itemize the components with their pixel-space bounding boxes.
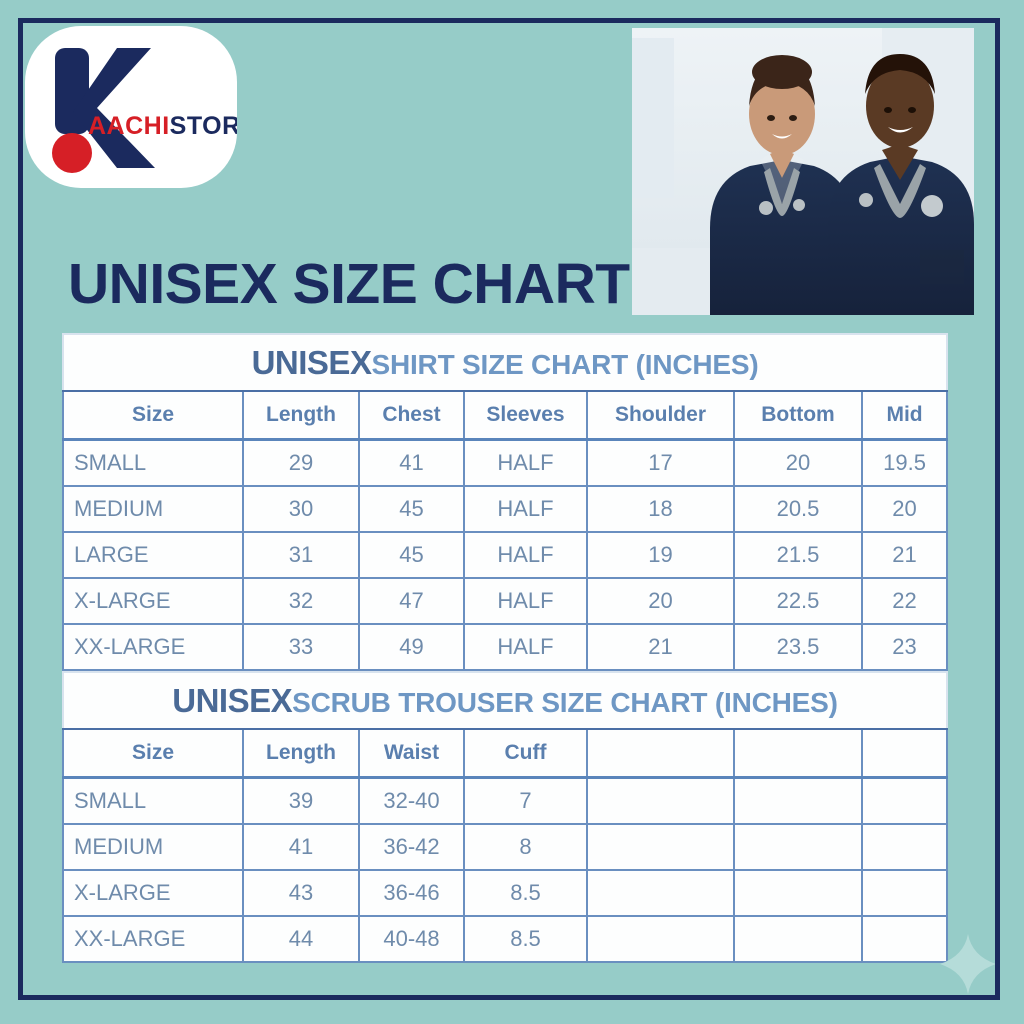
shirt-size-table: UNISEXSHIRT SIZE CHART (INCHES) Size Len… <box>62 333 948 671</box>
cell-length: 43 <box>243 870 359 916</box>
cell-size: LARGE <box>63 532 243 578</box>
cell-length: 33 <box>243 624 359 670</box>
shirt-section-unisex: UNISEX <box>252 344 372 381</box>
cell-length: 39 <box>243 778 359 825</box>
logo-word-store: STORE <box>170 112 237 140</box>
trouser-section-title: UNISEXSCRUB TROUSER SIZE CHART (INCHES) <box>63 672 947 729</box>
trouser-section-title-row: UNISEXSCRUB TROUSER SIZE CHART (INCHES) <box>63 672 947 729</box>
cell-size: SMALL <box>63 440 243 487</box>
cell-empty <box>862 870 947 916</box>
cell-chest: 45 <box>359 532 464 578</box>
cell-sleeves: HALF <box>464 440 587 487</box>
trouser-header-row: Size Length Waist Cuff <box>63 729 947 778</box>
trouser-col-empty-7 <box>862 729 947 778</box>
shirt-col-mid: Mid <box>862 391 947 440</box>
cell-empty <box>587 870 734 916</box>
cell-empty <box>734 916 862 962</box>
cell-empty <box>734 824 862 870</box>
shirt-col-sleeves: Sleeves <box>464 391 587 440</box>
cell-mid: 19.5 <box>862 440 947 487</box>
cell-length: 29 <box>243 440 359 487</box>
shirt-col-chest: Chest <box>359 391 464 440</box>
cell-waist: 36-42 <box>359 824 464 870</box>
logo-wordmark: AACHISTORE <box>88 114 237 139</box>
page-title: UNISEX SIZE CHART <box>68 256 630 313</box>
cell-mid: 21 <box>862 532 947 578</box>
table-row: X-LARGE 32 47 HALF 20 22.5 22 <box>63 578 947 624</box>
cell-shoulder: 20 <box>587 578 734 624</box>
hero-photo-healthcare-workers <box>632 28 974 315</box>
cell-waist: 40-48 <box>359 916 464 962</box>
table-row: SMALL 29 41 HALF 17 20 19.5 <box>63 440 947 487</box>
cell-chest: 41 <box>359 440 464 487</box>
cell-bottom: 20.5 <box>734 486 862 532</box>
size-chart-poster: AACHISTORE <box>0 0 1024 1024</box>
trouser-col-empty-5 <box>587 729 734 778</box>
cell-cuff: 8.5 <box>464 916 587 962</box>
cell-sleeves: HALF <box>464 624 587 670</box>
cell-empty <box>587 916 734 962</box>
shirt-section-title: UNISEXSHIRT SIZE CHART (INCHES) <box>63 334 947 391</box>
cell-cuff: 8.5 <box>464 870 587 916</box>
cell-empty <box>862 824 947 870</box>
shirt-col-length: Length <box>243 391 359 440</box>
trouser-col-length: Length <box>243 729 359 778</box>
cell-length: 41 <box>243 824 359 870</box>
cell-sleeves: HALF <box>464 532 587 578</box>
trouser-col-empty-6 <box>734 729 862 778</box>
trouser-col-size: Size <box>63 729 243 778</box>
cell-chest: 45 <box>359 486 464 532</box>
cell-bottom: 23.5 <box>734 624 862 670</box>
cell-empty <box>862 916 947 962</box>
cell-empty <box>734 870 862 916</box>
cell-bottom: 21.5 <box>734 532 862 578</box>
cell-size: MEDIUM <box>63 486 243 532</box>
logo-word-aachi: AACHI <box>88 112 170 140</box>
cell-length: 44 <box>243 916 359 962</box>
shirt-section-rest: SHIRT SIZE CHART (INCHES) <box>371 349 758 380</box>
cell-mid: 20 <box>862 486 947 532</box>
table-row: SMALL 39 32-40 7 <box>63 778 947 825</box>
cell-cuff: 8 <box>464 824 587 870</box>
cell-empty <box>734 778 862 825</box>
cell-size: XX-LARGE <box>63 624 243 670</box>
table-row: XX-LARGE 44 40-48 8.5 <box>63 916 947 962</box>
cell-cuff: 7 <box>464 778 587 825</box>
cell-length: 32 <box>243 578 359 624</box>
cell-chest: 47 <box>359 578 464 624</box>
shirt-header-row: Size Length Chest Sleeves Shoulder Botto… <box>63 391 947 440</box>
shirt-col-shoulder: Shoulder <box>587 391 734 440</box>
brand-logo: AACHISTORE <box>25 26 237 188</box>
table-row: MEDIUM 30 45 HALF 18 20.5 20 <box>63 486 947 532</box>
cell-empty <box>862 778 947 825</box>
sparkle-icon <box>940 934 996 994</box>
table-row: XX-LARGE 33 49 HALF 21 23.5 23 <box>63 624 947 670</box>
shirt-col-size: Size <box>63 391 243 440</box>
cell-size: X-LARGE <box>63 870 243 916</box>
cell-empty <box>587 778 734 825</box>
shirt-col-bottom: Bottom <box>734 391 862 440</box>
cell-mid: 22 <box>862 578 947 624</box>
cell-size: SMALL <box>63 778 243 825</box>
shirt-section-title-row: UNISEXSHIRT SIZE CHART (INCHES) <box>63 334 947 391</box>
cell-sleeves: HALF <box>464 578 587 624</box>
trouser-col-cuff: Cuff <box>464 729 587 778</box>
cell-waist: 36-46 <box>359 870 464 916</box>
logo-k-monogram-icon <box>25 26 237 188</box>
cell-size: X-LARGE <box>63 578 243 624</box>
cell-size: MEDIUM <box>63 824 243 870</box>
trouser-section-rest: SCRUB TROUSER SIZE CHART (INCHES) <box>292 687 838 718</box>
cell-bottom: 20 <box>734 440 862 487</box>
cell-size: XX-LARGE <box>63 916 243 962</box>
table-row: X-LARGE 43 36-46 8.5 <box>63 870 947 916</box>
cell-shoulder: 17 <box>587 440 734 487</box>
trouser-size-table: UNISEXSCRUB TROUSER SIZE CHART (INCHES) … <box>62 671 948 963</box>
cell-mid: 23 <box>862 624 947 670</box>
cell-shoulder: 19 <box>587 532 734 578</box>
cell-empty <box>587 824 734 870</box>
cell-length: 31 <box>243 532 359 578</box>
cell-shoulder: 18 <box>587 486 734 532</box>
cell-sleeves: HALF <box>464 486 587 532</box>
cell-shoulder: 21 <box>587 624 734 670</box>
size-chart-tables: UNISEXSHIRT SIZE CHART (INCHES) Size Len… <box>62 333 946 963</box>
table-row: MEDIUM 41 36-42 8 <box>63 824 947 870</box>
cell-chest: 49 <box>359 624 464 670</box>
table-row: LARGE 31 45 HALF 19 21.5 21 <box>63 532 947 578</box>
cell-waist: 32-40 <box>359 778 464 825</box>
cell-bottom: 22.5 <box>734 578 862 624</box>
trouser-section-unisex: UNISEX <box>172 682 292 719</box>
trouser-col-waist: Waist <box>359 729 464 778</box>
cell-length: 30 <box>243 486 359 532</box>
